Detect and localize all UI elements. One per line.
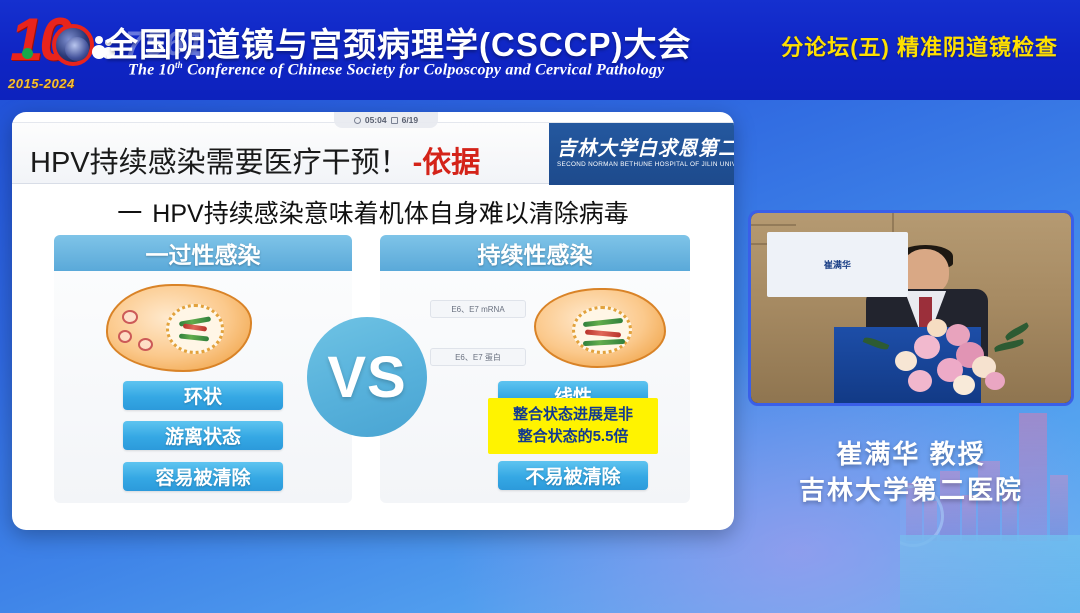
slide-content: HPV持续感染需要医疗干预！-依据 吉林大学白求恩第二医院 SECOND NOR… [12,112,734,530]
title-en-rest: Conference of Chinese Society for Colpos… [183,61,665,78]
podium-nameplate: 崔满华 [767,232,908,297]
nucleus-persistent [572,306,632,354]
slide-title-bar: HPV持续感染需要医疗干预！-依据 吉林大学白求恩第二医院 SECOND NOR… [12,122,734,184]
slide-subtitle: 一HPV持续感染意味着机体自身难以清除病毒 [12,194,734,230]
logo-globe-inner [65,37,89,61]
logo-green-dot-icon [22,48,33,59]
label-easy-clear: 容易被清除 [123,462,283,491]
title-en-sup: th [175,60,183,70]
conference-title-en: The 10th Conference of Chinese Society f… [128,60,664,79]
presentation-stage-background: HPV持续感染需要医疗干预！-依据 吉林大学白求恩第二医院 SECOND NOR… [0,100,1080,613]
highlight-line-1: 整合状态进展是非 [513,404,633,426]
subtitle-dash: 一 [117,200,142,228]
badge-time: 05:04 [365,115,387,125]
speaker-video-feed[interactable]: 崔满华 [748,210,1074,406]
clock-icon [354,117,361,124]
label-circular: 环状 [123,381,283,410]
episome-2 [118,330,132,343]
hospital-name-en: SECOND NORMAN BETHUNE HOSPITAL OF JILIN … [557,161,729,168]
vs-badge: VS [307,317,427,437]
flower-bouquet [873,316,1033,403]
slide-title: HPV持续感染需要医疗干预！-依据 [30,139,480,181]
cell-diagram-persistent [534,288,666,368]
column-header-persistent: 持续性感染 [380,235,690,271]
logo-year-range: 2015-2024 [8,76,128,91]
nucleus-transient [166,304,224,354]
hospital-name-cn: 吉林大学白求恩第二医院 [557,132,724,161]
conference-header-banner: 10 2015-2024 7561 全国阴道镜与宫颈病理学(CSCCP)大会 T… [0,0,1080,100]
label-hard-clear: 不易被清除 [498,461,648,490]
highlight-callout: 整合状态进展是非 整合状态的5.5倍 [488,398,658,454]
tag-e6e7-mrna: E6、E7 mRNA [430,300,526,318]
river-reflection [900,535,1080,613]
speaker-name: 崔满华 教授 [748,434,1074,471]
episome-3 [138,338,153,351]
conference-title-cn: 全国阴道镜与宫颈病理学(CSCCP)大会 [105,18,692,66]
session-label: 分论坛(五) 精准阴道镜检查 [781,30,1058,62]
tag-e6e7-protein: E6、E7 蛋白 [430,348,526,366]
speaker-organization: 吉林大学第二医院 [748,470,1074,507]
slide-title-accent: -依据 [413,147,481,179]
video-scene: 崔满华 [751,213,1071,403]
title-en-prefix: The 10 [128,61,175,78]
timestamp-badge: 05:04 6/19 [334,112,438,128]
label-free-state: 游离状态 [123,421,283,450]
cell-diagram-transient [106,284,252,372]
column-header-transient: 一过性感染 [54,235,352,271]
slide-title-main: HPV持续感染需要医疗干预！ [30,147,409,179]
speaker-head [901,249,949,295]
logo-globe-icon [52,24,94,66]
hospital-logo: 吉林大学白求恩第二医院 SECOND NORMAN BETHUNE HOSPIT… [549,123,734,185]
calendar-icon [391,117,398,124]
badge-date: 6/19 [402,115,419,125]
highlight-line-2: 整合状态的5.5倍 [518,426,629,448]
episome-1 [122,310,138,324]
subtitle-text: HPV持续感染意味着机体自身难以清除病毒 [152,200,628,228]
